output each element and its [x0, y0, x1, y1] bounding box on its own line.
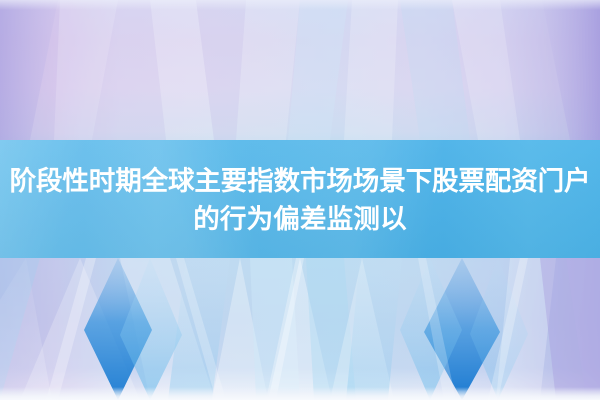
- banner-title-line-1: 阶段性时期全球主要指数市场场景下股票配资门户: [10, 162, 591, 200]
- banner-title-line-2: 的行为偏差监测以: [193, 200, 407, 238]
- watermark-text: [268, 376, 332, 392]
- facet-group-top: [0, 0, 600, 140]
- top-edge-fade: [0, 0, 600, 10]
- promo-banner: 阶段性时期全球主要指数市场场景下股票配资门户 的行为偏差监测以: [0, 0, 600, 400]
- banner-title: 阶段性时期全球主要指数市场场景下股票配资门户 的行为偏差监测以: [0, 140, 600, 258]
